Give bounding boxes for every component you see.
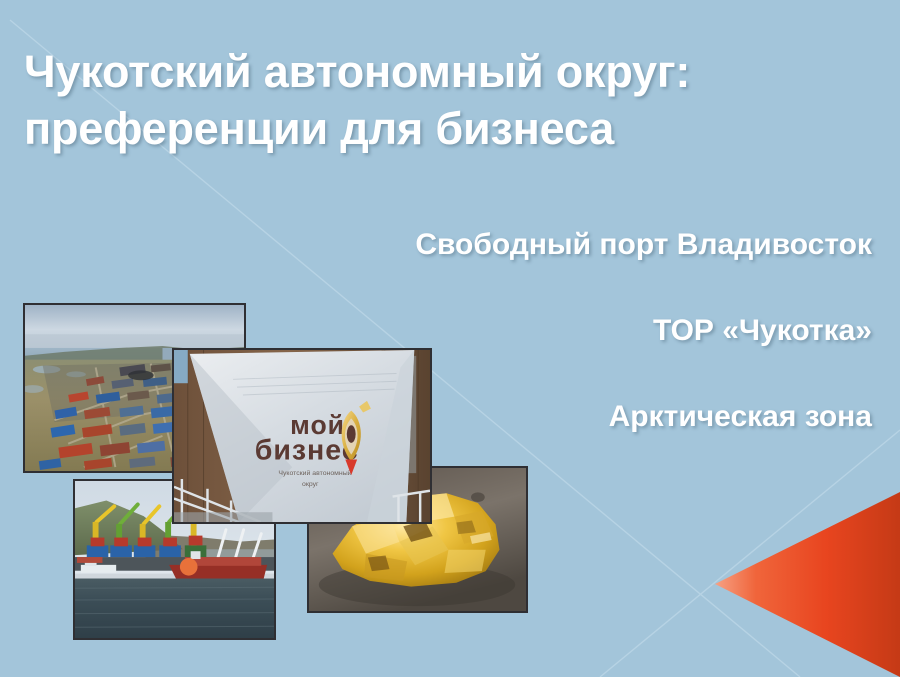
my-business-sign-photo: мой бизнес Чукотский автономный округ [172, 348, 432, 524]
slide-title: Чукотский автономный округ: преференции … [24, 43, 784, 157]
list-item-tor-chukotka: ТОР «Чукотка» [252, 314, 872, 348]
svg-text:округ: округ [302, 481, 319, 488]
presentation-slide: Чукотский автономный округ: преференции … [0, 0, 900, 677]
corner-accent-triangle [715, 492, 900, 677]
svg-text:Чукотский автономный: Чукотский автономный [278, 469, 351, 477]
list-item-free-port: Свободный порт Владивосток [252, 228, 872, 262]
